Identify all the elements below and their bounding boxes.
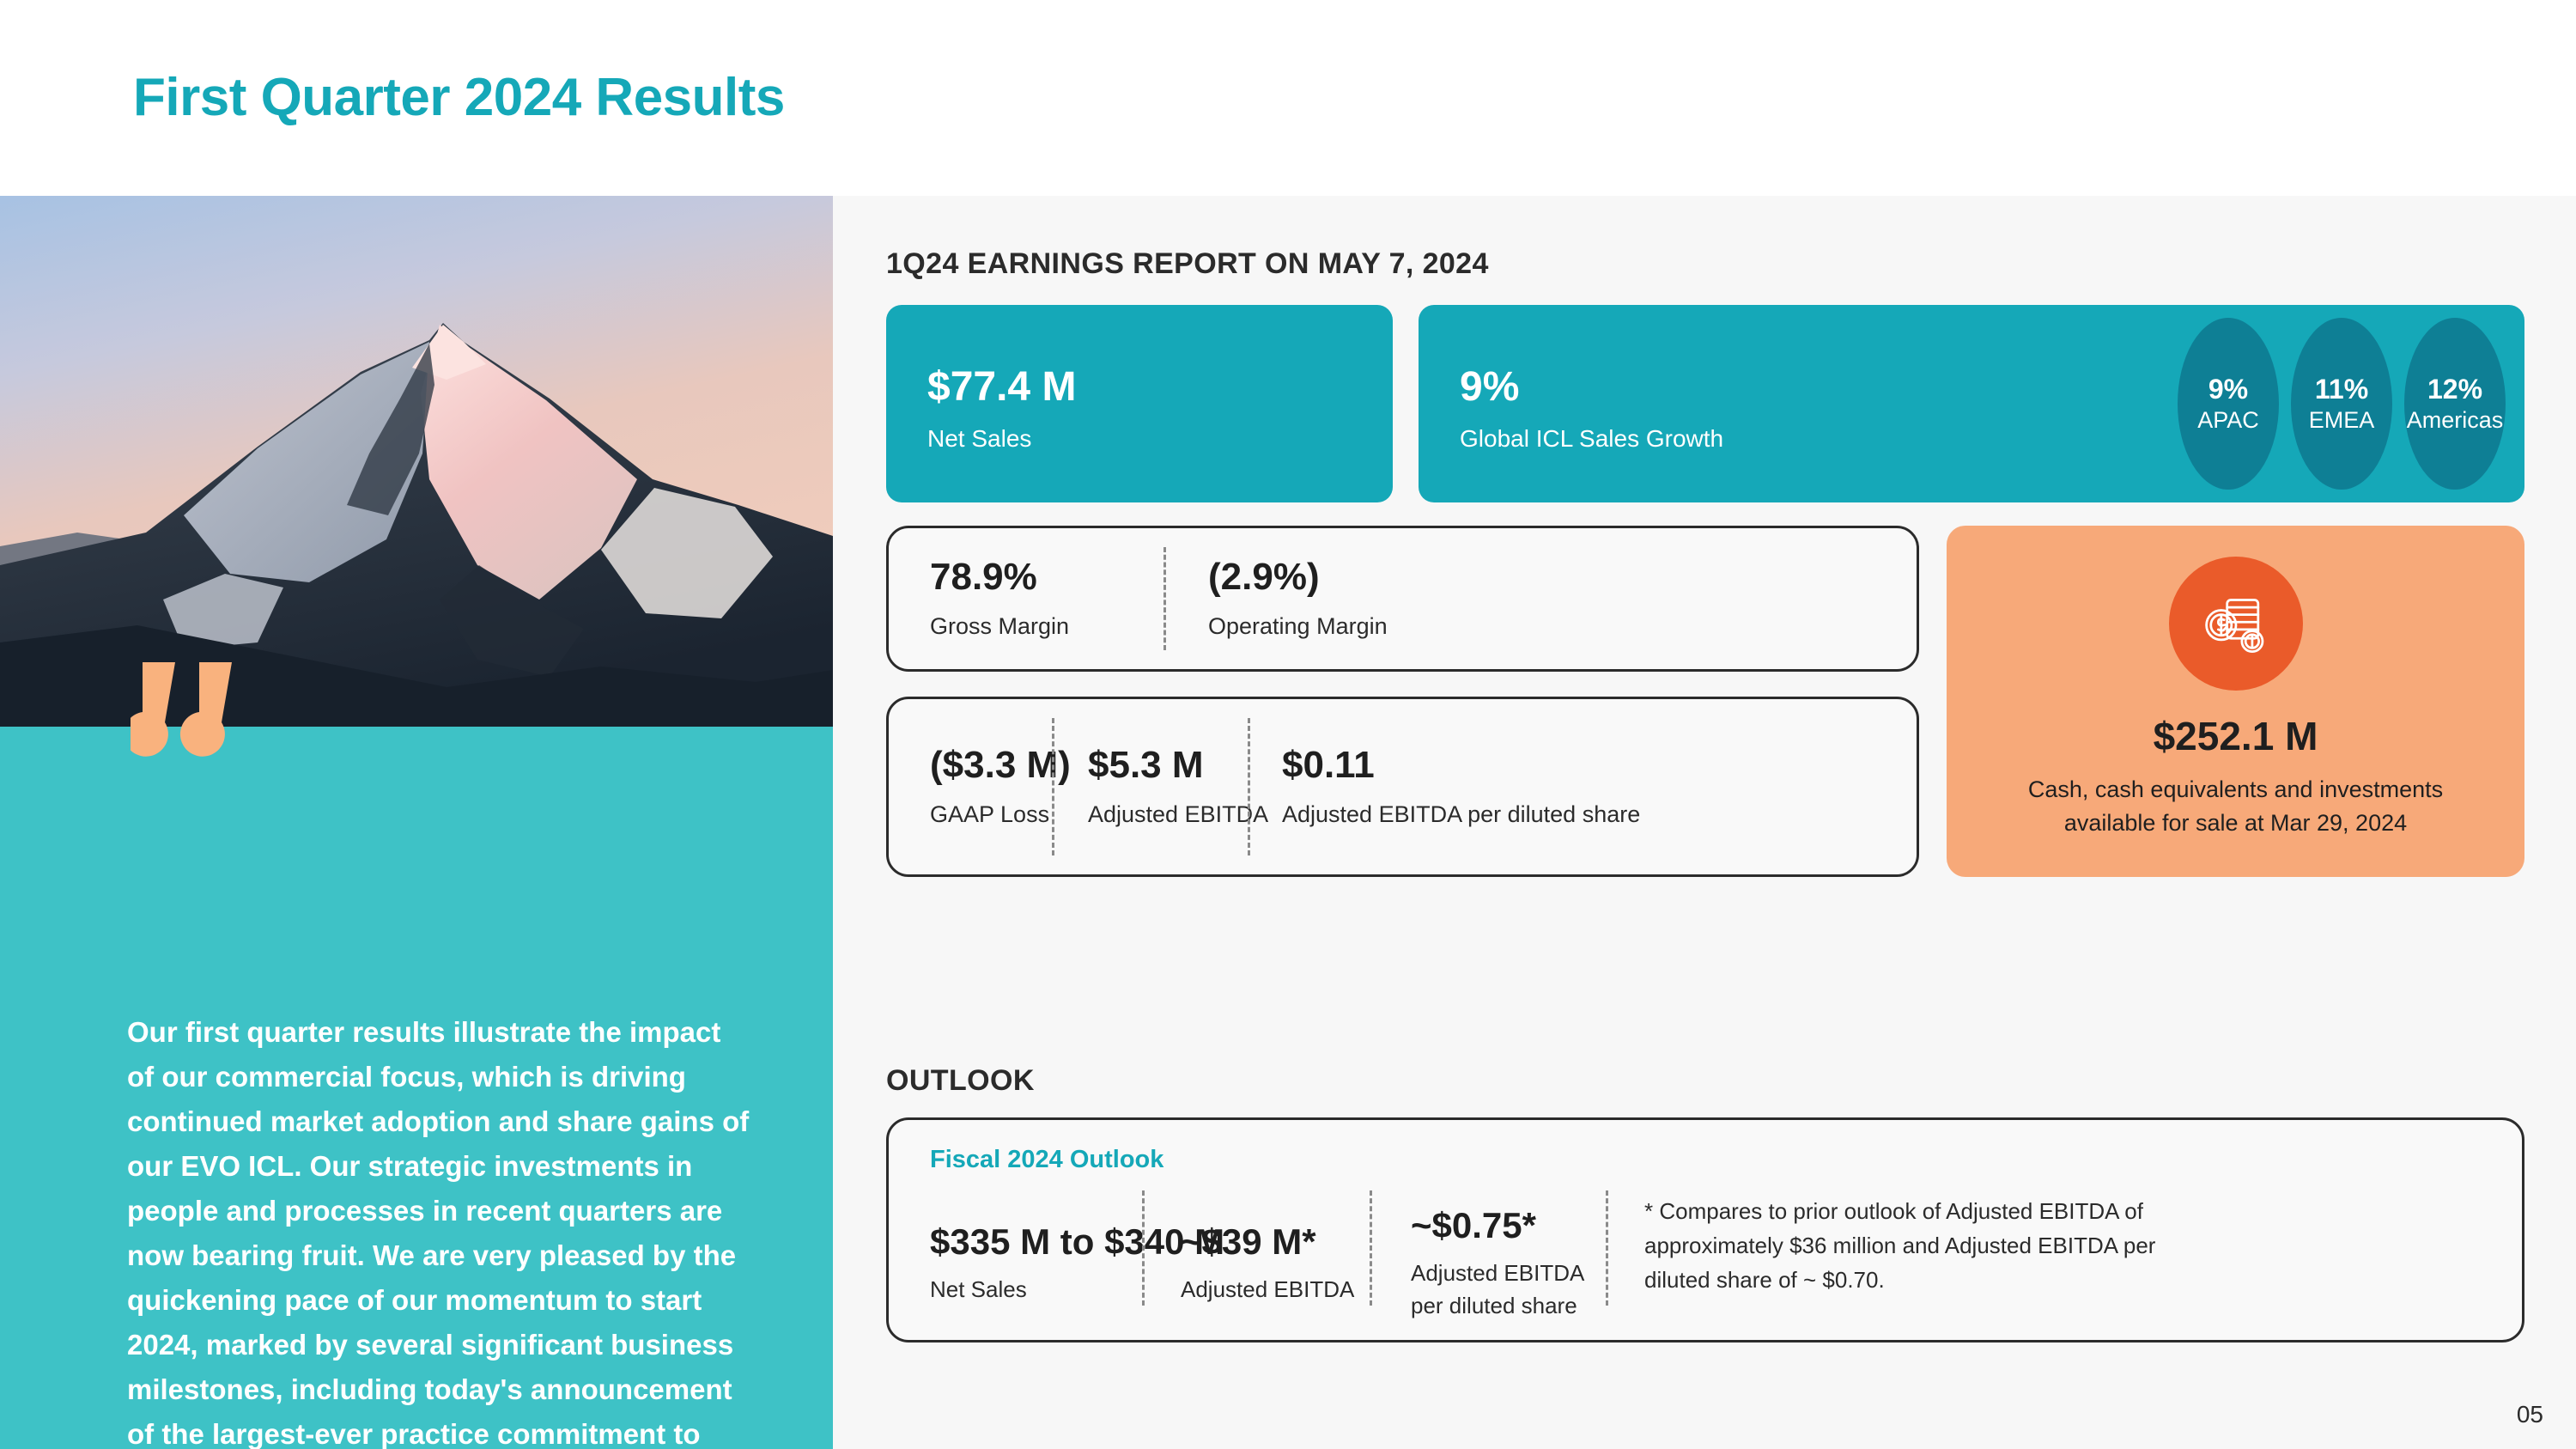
earnings-report-label: 1Q24 EARNINGS REPORT ON MAY 7, 2024 <box>886 247 1489 281</box>
divider <box>1142 1190 1145 1306</box>
ebitda-card: ($3.3 M) GAAP Loss $5.3 M Adjusted EBITD… <box>886 697 1919 877</box>
operating-margin-value: (2.9%) <box>1208 556 1388 600</box>
outlook-footnote: * Compares to prior outlook of Adjusted … <box>1644 1194 2177 1297</box>
cash-caption: Cash, cash equivalents and investments a… <box>1988 773 2483 840</box>
outlook-net-sales-metric: $335 M to $340 M Net Sales <box>930 1187 1102 1340</box>
region-emea-name: EMEA <box>2309 408 2375 434</box>
net-sales-label: Net Sales <box>927 425 1031 453</box>
outlook-adjusted-ebitda-label: Adjusted EBITDA <box>1181 1273 1361 1306</box>
main-content: 1Q24 EARNINGS REPORT ON MAY 7, 2024 $77.… <box>833 196 2576 1449</box>
mountain-hero-image <box>0 196 833 727</box>
slide-header: First Quarter 2024 Results <box>0 0 2576 196</box>
region-circle-emea: 11% EMEA <box>2291 318 2392 490</box>
region-apac-name: APAC <box>2197 408 2259 434</box>
coins-stack-icon <box>2169 557 2303 691</box>
quote-mark-icon <box>131 662 251 774</box>
icl-growth-card: 9% Global ICL Sales Growth 9% APAC 11% E… <box>1419 305 2524 502</box>
adjusted-ebitda-metric: $5.3 M Adjusted EBITDA <box>1088 699 1268 874</box>
outlook-adjusted-ebitda-value: ~$39 M* <box>1181 1221 1361 1263</box>
outlook-ebitda-per-share-label: Adjusted EBITDA per diluted share <box>1411 1257 1617 1322</box>
divider <box>1606 1190 1608 1306</box>
gross-margin-metric: 78.9% Gross Margin <box>930 528 1069 669</box>
gaap-loss-metric: ($3.3 M) GAAP Loss <box>930 699 1071 874</box>
slide: First Quarter 2024 Results <box>0 0 2576 1449</box>
outlook-label: OUTLOOK <box>886 1064 1035 1098</box>
kpi-teal-row: $77.4 M Net Sales 9% Global ICL Sales Gr… <box>886 305 2524 502</box>
operating-margin-label: Operating Margin <box>1208 611 1388 642</box>
outlook-heading: Fiscal 2024 Outlook <box>930 1146 1163 1174</box>
region-apac-pct: 9% <box>2208 374 2248 405</box>
outlook-ebitda-per-share-metric: ~$0.75* Adjusted EBITDA per diluted shar… <box>1411 1187 1617 1340</box>
region-circle-apac: 9% APAC <box>2178 318 2279 490</box>
left-column: Our first quarter results illustrate the… <box>0 196 833 1449</box>
outlook-net-sales-label: Net Sales <box>930 1273 1102 1306</box>
divider <box>1370 1190 1372 1306</box>
outlook-net-sales-value: $335 M to $340 M <box>930 1221 1102 1263</box>
net-sales-card: $77.4 M Net Sales <box>886 305 1393 502</box>
region-growth-circles: 9% APAC 11% EMEA 12% Americas <box>2178 318 2506 490</box>
page-title: First Quarter 2024 Results <box>133 67 785 128</box>
divider <box>1248 718 1250 855</box>
region-americas-name: Americas <box>2407 408 2504 434</box>
divider <box>1052 718 1054 855</box>
adjusted-ebitda-per-share-value: $0.11 <box>1282 744 1640 788</box>
gaap-loss-value: ($3.3 M) <box>930 744 1071 788</box>
region-circle-americas: 12% Americas <box>2404 318 2506 490</box>
outlook-ebitda-per-share-value: ~$0.75* <box>1411 1205 1617 1246</box>
icl-growth-value: 9% <box>1460 363 1519 411</box>
quote-panel: Our first quarter results illustrate the… <box>0 727 833 1449</box>
gross-margin-label: Gross Margin <box>930 611 1069 642</box>
outlook-adjusted-ebitda-metric: ~$39 M* Adjusted EBITDA <box>1181 1187 1361 1340</box>
adjusted-ebitda-per-share-label: Adjusted EBITDA per diluted share <box>1282 799 1640 830</box>
gross-margin-value: 78.9% <box>930 556 1069 600</box>
adjusted-ebitda-per-share-metric: $0.11 Adjusted EBITDA per diluted share <box>1282 699 1640 874</box>
gaap-loss-label: GAAP Loss <box>930 799 1071 830</box>
adjusted-ebitda-value: $5.3 M <box>1088 744 1268 788</box>
cash-value: $252.1 M <box>1947 713 2524 759</box>
icl-growth-label: Global ICL Sales Growth <box>1460 425 1723 453</box>
operating-margin-metric: (2.9%) Operating Margin <box>1208 528 1388 669</box>
divider <box>1163 547 1166 650</box>
net-sales-value: $77.4 M <box>927 363 1076 411</box>
region-emea-pct: 11% <box>2315 374 2368 405</box>
margins-card: 78.9% Gross Margin (2.9%) Operating Marg… <box>886 526 1919 672</box>
quote-text: Our first quarter results illustrate the… <box>127 1010 754 1449</box>
region-americas-pct: 12% <box>2427 374 2482 405</box>
adjusted-ebitda-label: Adjusted EBITDA <box>1088 799 1268 830</box>
page-number: 05 <box>2517 1401 2543 1428</box>
cash-card: $252.1 M Cash, cash equivalents and inve… <box>1947 526 2524 877</box>
outlook-card: Fiscal 2024 Outlook $335 M to $340 M Net… <box>886 1117 2524 1342</box>
